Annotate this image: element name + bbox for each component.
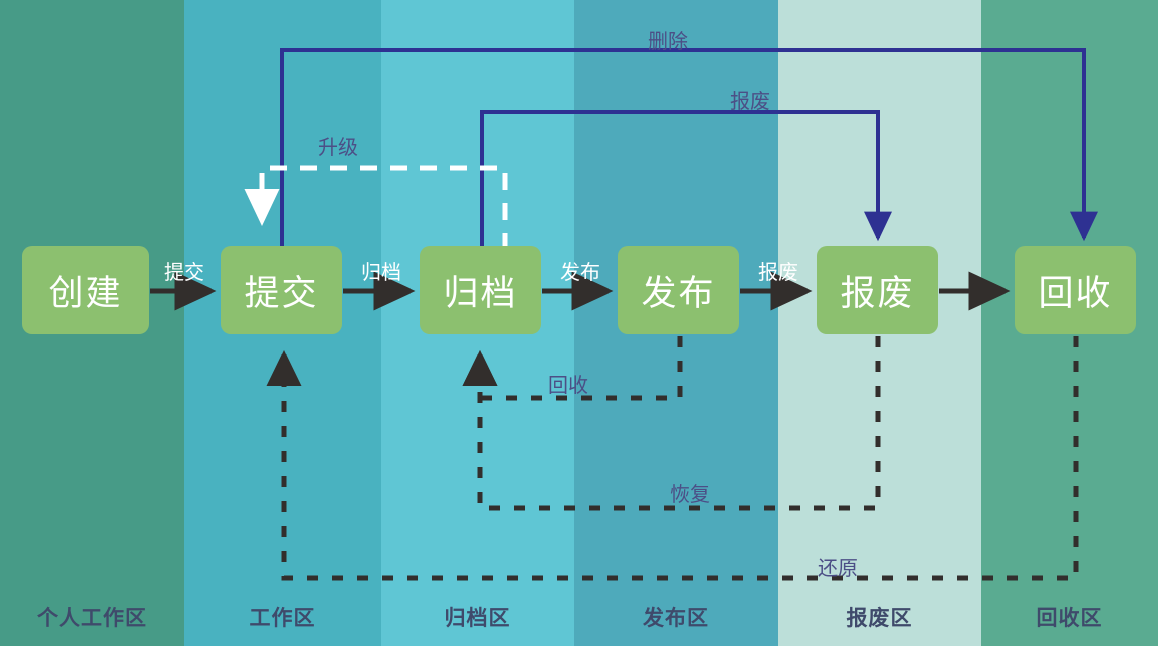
state-node-submit[interactable]: 提交	[221, 246, 342, 334]
zone-label-3: 发布区	[574, 602, 778, 632]
state-flow-diagram: 创建提交归档发布报废回收 提交归档发布报废删除报废升级回收恢复还原 个人工作区工…	[0, 0, 1158, 646]
transition-label-t-recover: 回收	[548, 369, 588, 398]
zone-label-4: 报废区	[778, 602, 981, 632]
transition-label-t-restore: 恢复	[670, 478, 710, 507]
edge-revert	[284, 336, 1076, 578]
state-node-scrap[interactable]: 报废	[817, 246, 938, 334]
zone-label-2: 归档区	[381, 602, 574, 632]
edge-scrapped	[482, 112, 878, 250]
transition-label-t-scrapped: 报废	[730, 85, 770, 114]
zone-label-5: 回收区	[981, 602, 1158, 632]
edge-delete	[282, 50, 1084, 250]
zone-label-0: 个人工作区	[0, 602, 184, 632]
state-node-archive[interactable]: 归档	[420, 246, 541, 334]
transition-label-t-revert: 还原	[818, 552, 858, 581]
connector-layer	[0, 0, 1158, 646]
transition-label-t-publish: 发布	[560, 256, 600, 285]
zone-label-1: 工作区	[184, 602, 381, 632]
transition-label-t-delete: 删除	[648, 25, 688, 54]
transition-label-t-submit: 提交	[164, 256, 204, 285]
state-node-recycle[interactable]: 回收	[1015, 246, 1136, 334]
state-node-create[interactable]: 创建	[22, 246, 149, 334]
transition-label-t-scrap: 报废	[758, 256, 798, 285]
transition-label-t-archive: 归档	[361, 256, 401, 285]
state-node-publish[interactable]: 发布	[618, 246, 739, 334]
edge-upgrade	[262, 168, 505, 250]
transition-label-t-upgrade: 升级	[318, 131, 358, 160]
